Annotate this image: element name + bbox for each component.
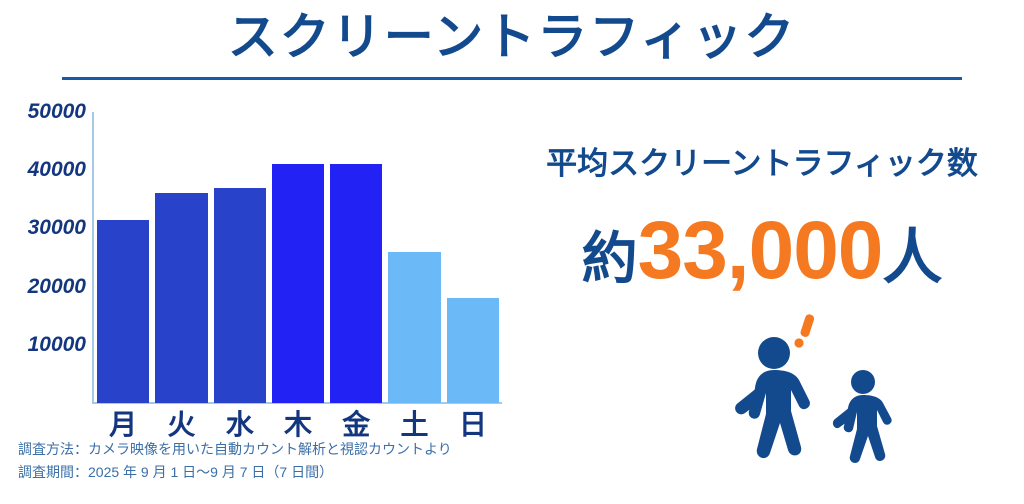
kpi-value: 約33,000人 [500, 210, 1024, 292]
kpi-number: 33,000 [638, 205, 883, 296]
y-tick-label: 40000 [28, 159, 86, 181]
infographic-page: スクリーントラフィック 1000020000300004000050000 月火… [0, 0, 1024, 504]
kpi-panel: 平均スクリーントラフィック数 約33,000人 [500, 110, 1024, 500]
y-tick-label: 50000 [28, 101, 86, 123]
kpi-approx-prefix: 約 [582, 227, 638, 290]
bar-木 [272, 164, 324, 403]
x-tick-label: 水 [211, 408, 269, 442]
bar-水 [214, 188, 266, 403]
footnote-period: 調査期間：2025 年 9 月 1 日〜9 月 7 日（7 日間） [18, 461, 578, 484]
pedestrian-pictogram [730, 310, 930, 500]
bar-月 [97, 220, 149, 403]
x-tick-label: 日 [444, 408, 502, 442]
page-title: スクリーントラフィック [0, 6, 1024, 68]
y-axis-tick-labels: 1000020000300004000050000 [0, 100, 86, 440]
y-tick-label: 10000 [28, 334, 86, 356]
bar-金 [330, 164, 382, 403]
walking-person-small-icon [833, 370, 892, 463]
title-divider [62, 77, 962, 80]
x-tick-label: 金 [327, 408, 385, 442]
walking-person-large-icon [735, 337, 810, 458]
footnotes: 調査方法：カメラ映像を用いた自動カウント解析と視認カウントより 調査期間：202… [18, 438, 578, 484]
exclamation-mark-icon [794, 313, 815, 347]
footnote-method: 調査方法：カメラ映像を用いた自動カウント解析と視認カウントより [18, 438, 578, 461]
bar-chart: 1000020000300004000050000 月火水木金土日 [0, 100, 500, 440]
bars-container [94, 112, 502, 403]
kpi-label: 平均スクリーントラフィック数 [500, 138, 1024, 183]
y-tick-label: 20000 [28, 276, 86, 298]
x-tick-label: 火 [152, 408, 210, 442]
y-tick-label: 30000 [28, 217, 86, 239]
kpi-unit: 人 [882, 224, 942, 291]
bar-火 [155, 193, 207, 403]
x-tick-label: 土 [385, 408, 443, 442]
x-tick-label: 木 [269, 408, 327, 442]
bar-土 [388, 252, 440, 403]
bar-日 [447, 298, 499, 403]
x-tick-label: 月 [94, 408, 152, 442]
